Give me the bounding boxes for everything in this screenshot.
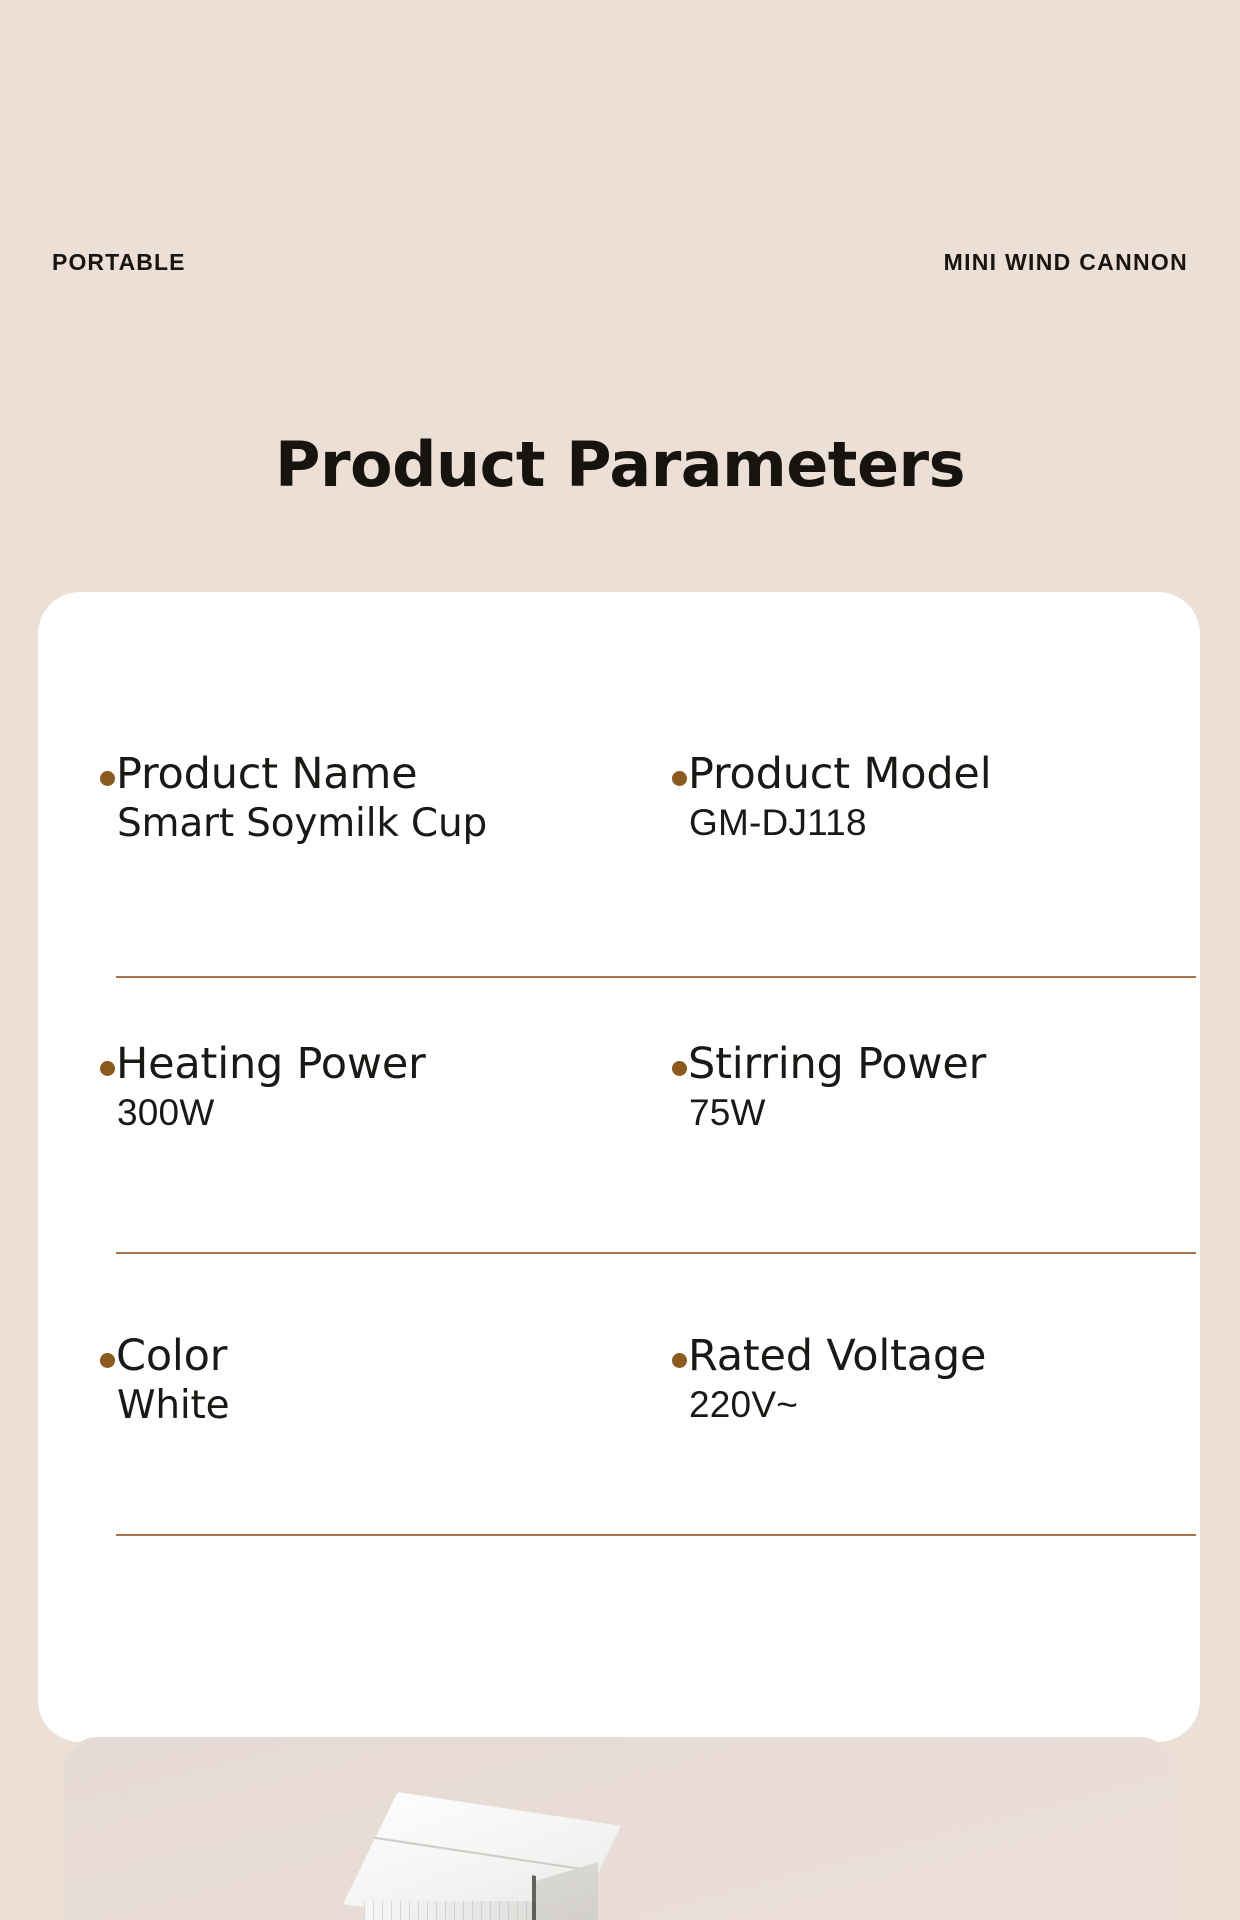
parameter-value: 220V~ [689, 1385, 1160, 1426]
parameter-label: Heating Power [116, 1042, 426, 1087]
parameter-value: GM-DJ118 [689, 803, 1160, 844]
product-photo [64, 1737, 1174, 1920]
parameter-item-color: Color White [78, 1334, 650, 1428]
row-divider [116, 1534, 1196, 1536]
eyebrow-left-label: PORTABLE [52, 251, 186, 274]
bullet-icon [672, 771, 687, 786]
parameter-row: Color White Rated Voltage 220V~ [78, 1334, 1160, 1428]
parameter-row: Heating Power 300W Stirring Power 75W [78, 1042, 1160, 1133]
parameter-item-product-name: Product Name Smart Soymilk Cup [78, 752, 650, 846]
parameter-value: 300W [117, 1093, 650, 1134]
parameter-label: Color [116, 1334, 227, 1379]
parameter-label: Rated Voltage [688, 1334, 986, 1379]
bullet-icon [672, 1353, 687, 1368]
parameter-label-wrap: Color [100, 1334, 650, 1379]
bullet-icon [100, 1061, 115, 1076]
parameter-label-wrap: Product Name [100, 752, 650, 797]
parameter-label: Product Name [116, 752, 417, 797]
page-title: Product Parameters [0, 434, 1240, 496]
parameter-item-heating-power: Heating Power 300W [78, 1042, 650, 1133]
box-vertical-edge [532, 1875, 536, 1920]
parameters-card: Product Name Smart Soymilk Cup Product M… [38, 592, 1200, 1742]
parameter-row: Product Name Smart Soymilk Cup Product M… [78, 752, 1160, 846]
row-divider [116, 1252, 1196, 1254]
parameter-item-product-model: Product Model GM-DJ118 [650, 752, 1160, 846]
parameter-value: Smart Soymilk Cup [117, 803, 650, 846]
parameter-label-wrap: Product Model [672, 752, 1160, 797]
parameter-label-wrap: Heating Power [100, 1042, 650, 1087]
bullet-icon [672, 1061, 687, 1076]
parameter-label-wrap: Stirring Power [672, 1042, 1160, 1087]
parameter-label: Stirring Power [688, 1042, 986, 1087]
parameter-label: Product Model [688, 752, 991, 797]
bullet-icon [100, 1353, 115, 1368]
parameter-item-rated-voltage: Rated Voltage 220V~ [650, 1334, 1160, 1428]
parameter-value: 75W [689, 1093, 1160, 1134]
product-box-illustration [322, 1809, 622, 1920]
eyebrow-right-label: MINI WIND CANNON [944, 251, 1188, 274]
eyebrow-row: PORTABLE MINI WIND CANNON [0, 245, 1240, 279]
box-front-ribbing [364, 1901, 536, 1920]
row-divider [116, 976, 1196, 978]
parameter-label-wrap: Rated Voltage [672, 1334, 1160, 1379]
bullet-icon [100, 771, 115, 786]
parameter-item-stirring-power: Stirring Power 75W [650, 1042, 1160, 1133]
parameter-value: White [117, 1385, 650, 1428]
